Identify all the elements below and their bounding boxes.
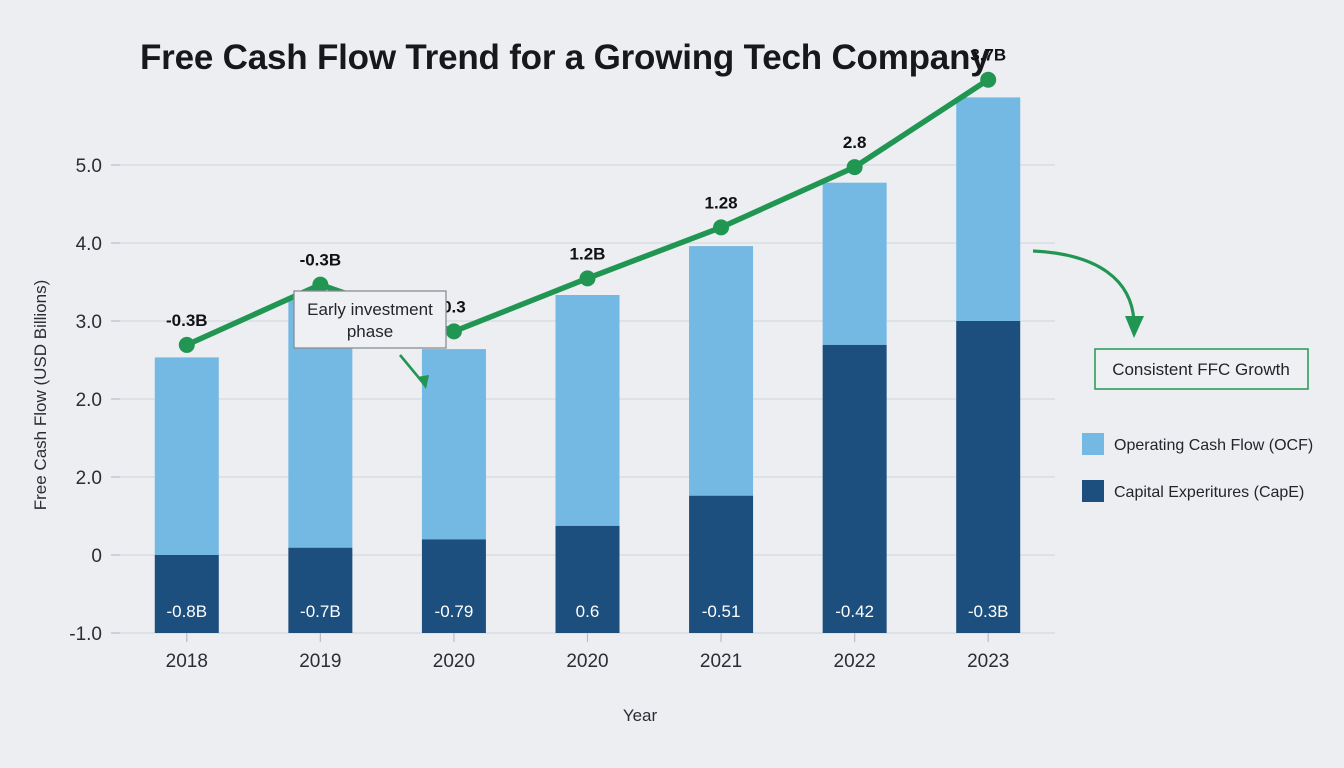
bar-value-label: -0.79 — [435, 602, 474, 621]
bar-series — [155, 97, 1020, 633]
line-point-label: 1.28 — [705, 193, 738, 212]
legend-label[interactable]: Capital Experitures (CapE) — [1114, 484, 1304, 501]
line-point-label: 3.7B — [970, 46, 1006, 65]
line-marker[interactable] — [312, 277, 328, 293]
x-tick-label: 2020 — [433, 651, 475, 672]
bar-segment-capex[interactable] — [155, 555, 219, 633]
line-marker[interactable] — [847, 159, 863, 175]
y-tick-label: 3.0 — [76, 312, 102, 333]
chart-canvas: 5.04.03.02.02.00-1.0 2018201920202020202… — [0, 0, 1344, 768]
bar-segment-ocf[interactable] — [689, 246, 753, 496]
bar-segment-ocf[interactable] — [556, 295, 620, 526]
x-tick-label: 2018 — [166, 651, 208, 672]
bar-segment-capex[interactable] — [823, 345, 887, 633]
x-tick-label: 2019 — [299, 651, 341, 672]
bar-value-label: -0.51 — [702, 602, 741, 621]
annotation-growth-label: Consistent FFC Growth — [1112, 360, 1290, 379]
annotation-growth-arrow-head — [1125, 316, 1144, 338]
line-point-label: -0.3B — [166, 311, 208, 330]
annotation-growth-arrow-curve — [1033, 251, 1134, 322]
bar-segment-ocf[interactable] — [155, 357, 219, 555]
x-axis-title: Year — [623, 706, 658, 725]
bar-segment-ocf[interactable] — [823, 183, 887, 345]
x-tick-label: 2023 — [967, 651, 1009, 672]
bar-value-label: 0.6 — [576, 602, 600, 621]
annotation-early-line2: phase — [347, 322, 393, 341]
y-tick-label: 2.0 — [76, 468, 102, 489]
y-tick-label: -1.0 — [69, 624, 102, 645]
line-point-label: 2.8 — [843, 133, 867, 152]
bar-segment-ocf[interactable] — [956, 97, 1020, 321]
bar-value-label: -0.8B — [166, 602, 207, 621]
bar-value-label: -0.3B — [968, 602, 1009, 621]
y-tick-label: 4.0 — [76, 234, 102, 255]
legend-label[interactable]: Operating Cash Flow (OCF) — [1114, 437, 1313, 454]
line-point-label: -0.3B — [300, 251, 342, 270]
line-marker[interactable] — [446, 323, 462, 339]
legend[interactable]: Operating Cash Flow (OCF)Capital Experit… — [1082, 433, 1313, 502]
y-axis-tick-labels: 5.04.03.02.02.00-1.0 — [69, 156, 102, 645]
line-marker[interactable] — [580, 270, 596, 286]
bar-value-label: -0.7B — [300, 602, 341, 621]
bar-segment-capex[interactable] — [956, 321, 1020, 633]
y-tick-label: 2.0 — [76, 390, 102, 411]
x-tick-label: 2021 — [700, 651, 742, 672]
y-tick-label: 0 — [91, 546, 102, 567]
y-axis-title: Free Cash Flow (USD Billions) — [31, 280, 50, 511]
line-marker[interactable] — [713, 219, 729, 235]
bar-segment-ocf[interactable] — [422, 349, 486, 539]
x-tick-label: 2020 — [566, 651, 608, 672]
legend-swatch[interactable] — [1082, 480, 1104, 502]
legend-swatch[interactable] — [1082, 433, 1104, 455]
x-tick-label: 2022 — [834, 651, 876, 672]
chart-page: Free Cash Flow Trend for a Growing Tech … — [0, 0, 1344, 768]
line-point-label: 1.2B — [570, 244, 606, 263]
annotation-consistent-ffc-growth[interactable]: Consistent FFC Growth — [1033, 251, 1308, 389]
bar-value-label: -0.42 — [835, 602, 874, 621]
x-axis-tick-labels: 2018201920202020202120222023 — [166, 651, 1010, 672]
annotation-early-line1: Early investment — [307, 300, 433, 319]
line-marker[interactable] — [980, 72, 996, 88]
y-tick-label: 5.0 — [76, 156, 102, 177]
line-marker[interactable] — [179, 337, 195, 353]
